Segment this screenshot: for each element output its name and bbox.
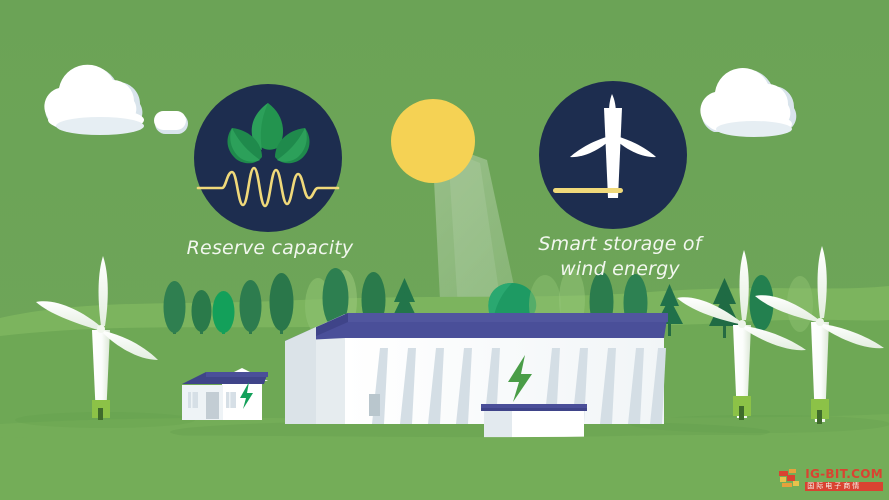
watermark-logo-icon [779, 469, 801, 489]
illustration-canvas: Reserve capacity Smart storage of wind e… [0, 0, 889, 500]
house-door [206, 392, 219, 419]
warehouse-annex [481, 404, 587, 439]
foreground-shadow [0, 434, 889, 500]
scene-svg [0, 0, 889, 500]
ig-bit-watermark: IG-BIT.COM 国际电子商情 [779, 466, 883, 492]
reserve-capacity-icon[interactable] [194, 84, 342, 232]
sun [391, 99, 475, 183]
warehouse-door [369, 394, 380, 416]
watermark-sub-text: 国际电子商情 [805, 482, 883, 491]
watermark-main-text: IG-BIT.COM [805, 468, 883, 480]
smart-storage-icon[interactable] [539, 81, 687, 229]
energy-storage-warehouse [285, 313, 668, 439]
cloud-left-small [154, 111, 188, 134]
gold-bar [553, 188, 623, 193]
watermark-text: IG-BIT.COM 国际电子商情 [805, 468, 883, 491]
